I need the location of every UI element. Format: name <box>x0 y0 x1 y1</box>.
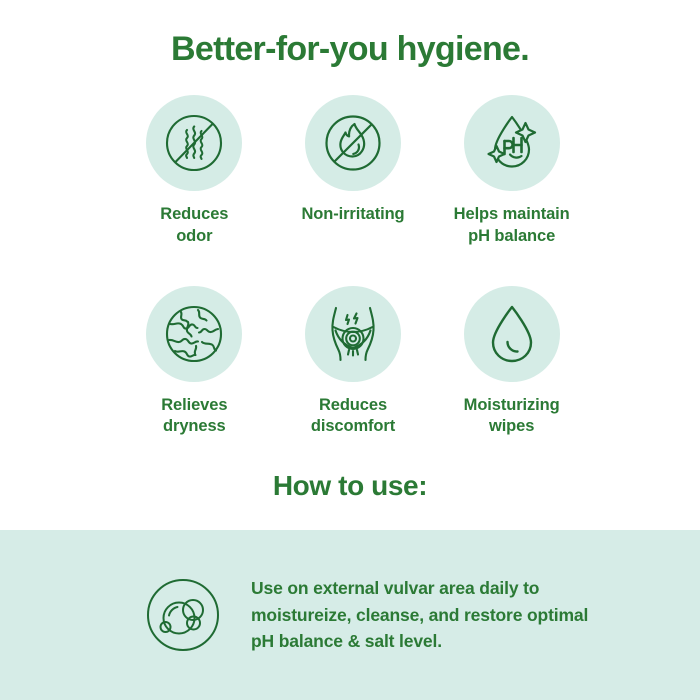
benefits-grid: Reduces odor Non-irritating <box>118 95 588 438</box>
how-to-use-text: Use on external vulvar area daily to moi… <box>251 575 601 655</box>
benefit-label: Helps maintain pH balance <box>454 204 570 248</box>
pelvic-discomfort-icon <box>305 286 401 382</box>
benefit-label: Non-irritating <box>301 204 404 226</box>
dry-cracked-sphere-icon <box>146 286 242 382</box>
benefit-item: Moisturizing wipes <box>435 286 588 439</box>
benefit-label: Moisturizing wipes <box>464 395 560 439</box>
infographic-page: Better-for-you hygiene. Reduces odor <box>0 0 700 700</box>
benefit-label: Reduces discomfort <box>311 395 395 439</box>
benefit-item: Reduces odor <box>118 95 271 248</box>
benefit-item: Non-irritating <box>277 95 430 248</box>
no-odor-icon <box>146 95 242 191</box>
ph-droplet-sparkle-icon <box>464 95 560 191</box>
benefit-item: Relieves dryness <box>118 286 271 439</box>
benefit-label: Reduces odor <box>160 204 228 248</box>
bubbles-circle-icon <box>145 577 221 653</box>
benefit-item: Helps maintain pH balance <box>435 95 588 248</box>
page-title: Better-for-you hygiene. <box>0 30 700 69</box>
benefit-label: Relieves dryness <box>161 395 227 439</box>
droplet-icon <box>464 286 560 382</box>
benefit-item: Reduces discomfort <box>277 286 430 439</box>
how-to-use-band: Use on external vulvar area daily to moi… <box>0 530 700 700</box>
how-to-use-title: How to use: <box>0 470 700 502</box>
no-flame-icon <box>305 95 401 191</box>
